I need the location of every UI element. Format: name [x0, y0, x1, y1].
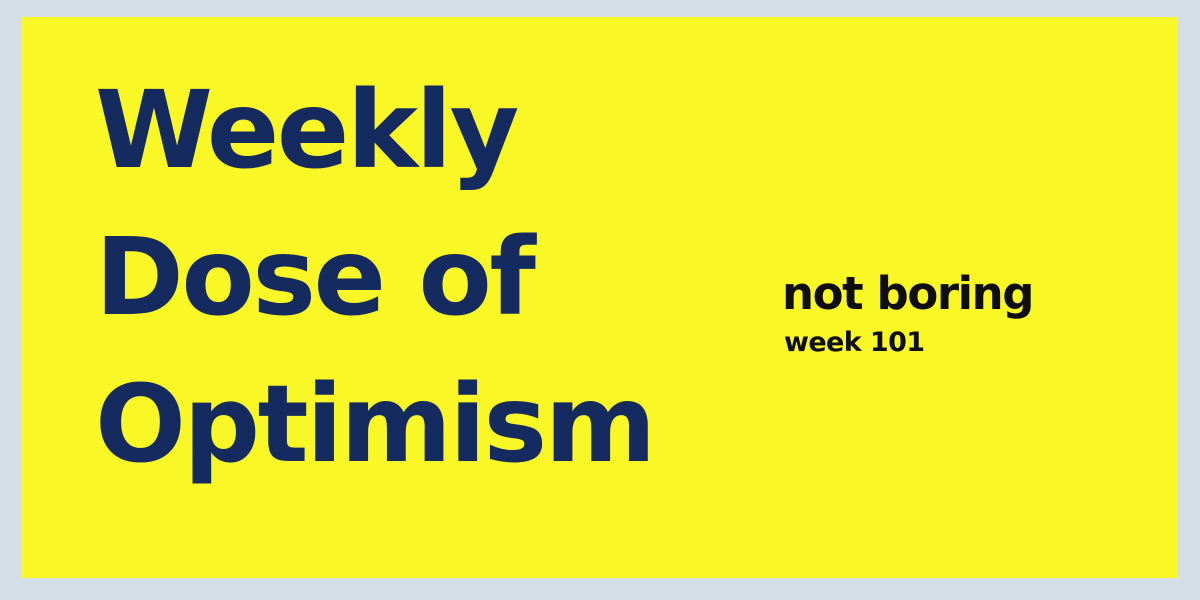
headline-block: Weekly Dose of Optimism — [95, 58, 715, 499]
yellow-poster-panel: Weekly Dose of Optimism not boring week … — [21, 17, 1178, 578]
headline-line-1: Weekly — [95, 58, 715, 205]
brand-issue-number: week 101 — [782, 323, 1112, 363]
poster-canvas: Weekly Dose of Optimism not boring week … — [0, 0, 1200, 600]
headline-line-3: Optimism — [95, 352, 715, 499]
brand-name: not boring — [782, 265, 1112, 323]
brand-block: not boring week 101 — [782, 265, 1112, 363]
headline-line-2: Dose of — [95, 205, 715, 352]
